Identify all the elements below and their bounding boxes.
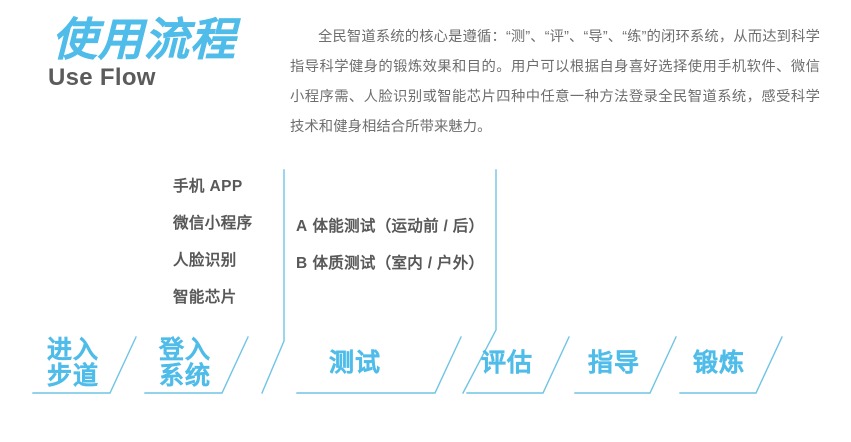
list-item-login-option: 手机 APP [173, 168, 273, 205]
use-flow-infographic: 使用流程 Use Flow 全民智道系统的核心是遵循：“测”、“评”、“导”、“… [0, 0, 851, 442]
stage-login-system: 登入 系统 [145, 337, 225, 389]
stage-enter-trail: 进入 步道 [33, 337, 113, 389]
stage-label-line1: 指导 [559, 350, 669, 376]
test-label: 体能测试（运动前 / 后） [313, 218, 485, 235]
intro-paragraph: 全民智道系统的核心是遵循：“测”、“评”、“导”、“练”的闭环系统，从而达到科学… [290, 22, 820, 142]
list-item-test: B体质测试（室内 / 户外） [296, 245, 496, 282]
test-type-list: A体能测试（运动前 / 后） B体质测试（室内 / 户外） [296, 208, 496, 282]
stage-label-line1: 评估 [452, 350, 562, 376]
stage-label-line1: 锻炼 [664, 350, 774, 376]
list-item-login-option: 微信小程序 [173, 205, 273, 242]
stage-label-line2: 步道 [33, 363, 113, 389]
stage-label-line2: 系统 [145, 363, 225, 389]
stage-evaluate: 评估 [452, 350, 562, 376]
page-title-chinese: 使用流程 [52, 16, 236, 63]
login-option-list: 手机 APP 微信小程序 人脸识别 智能芯片 [173, 168, 273, 316]
page-title-english: Use Flow [48, 64, 156, 92]
list-item-login-option: 人脸识别 [173, 242, 273, 279]
stage-label-line1: 测试 [300, 350, 410, 376]
test-key: A [296, 218, 308, 235]
stage-test: 测试 [300, 350, 410, 376]
stage-exercise: 锻炼 [664, 350, 774, 376]
test-key: B [296, 255, 308, 272]
stage-label-line1: 登入 [145, 337, 225, 363]
stage-guide: 指导 [559, 350, 669, 376]
stage-label-line1: 进入 [33, 337, 113, 363]
list-item-login-option: 智能芯片 [173, 279, 273, 316]
list-item-test: A体能测试（运动前 / 后） [296, 208, 496, 245]
test-label: 体质测试（室内 / 户外） [313, 255, 485, 272]
